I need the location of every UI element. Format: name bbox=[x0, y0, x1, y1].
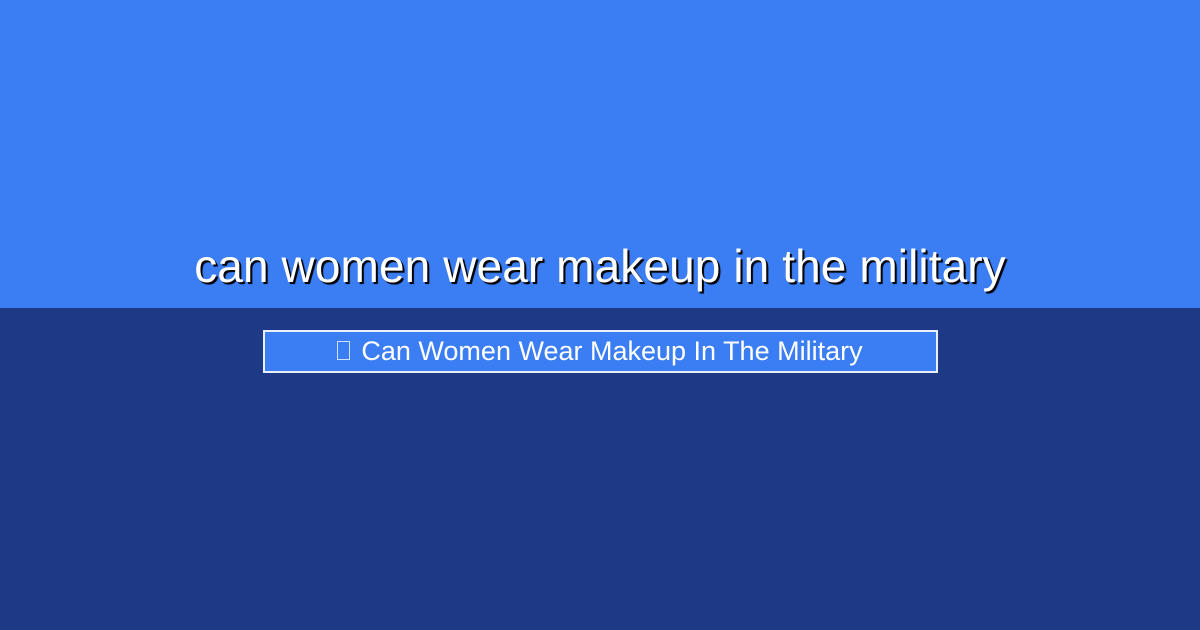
page-title: can women wear makeup in the military bbox=[0, 0, 1200, 308]
cta-container: Can Women Wear Makeup In The Military bbox=[0, 330, 1200, 373]
missing-glyph-box-icon bbox=[337, 341, 350, 360]
watch-video-button-label: Can Women Wear Makeup In The Military bbox=[361, 338, 862, 365]
thumbnail-canvas: can women wear makeup in the military Ca… bbox=[0, 0, 1200, 630]
watch-video-button[interactable]: Can Women Wear Makeup In The Military bbox=[263, 330, 938, 373]
hero-band: can women wear makeup in the military bbox=[0, 0, 1200, 308]
